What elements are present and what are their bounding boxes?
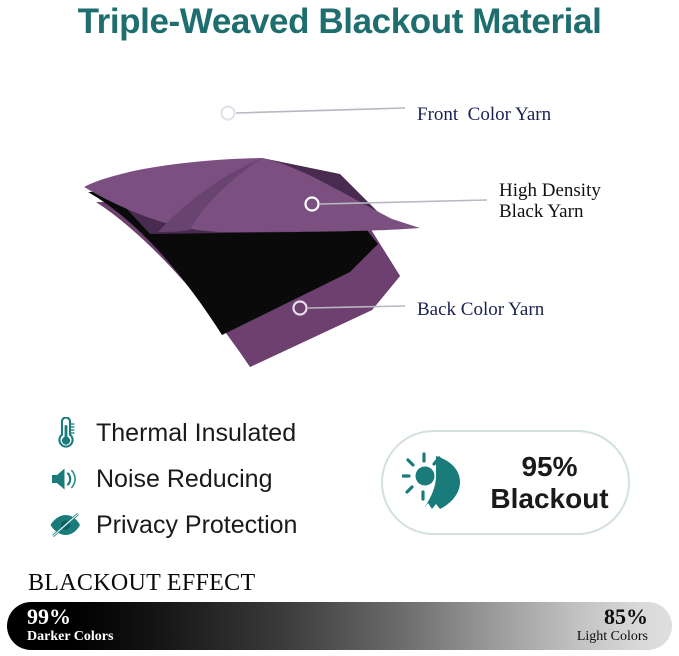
blackout-percent: 95% — [521, 451, 577, 482]
marker-circle-icon-front — [222, 107, 235, 120]
callout-line-front — [236, 108, 405, 113]
feature-list: Thermal Insulated Noise Reducing Privacy… — [48, 410, 378, 548]
feature-item-privacy-protection: Privacy Protection — [48, 502, 378, 548]
feature-label: Noise Reducing — [96, 465, 273, 494]
feature-label: Privacy Protection — [96, 511, 297, 540]
speaker-sound-icon — [48, 462, 82, 496]
blackout-effect-left: 99% Darker Colors — [27, 602, 113, 650]
darker-colors-percent: 99% — [27, 606, 71, 628]
light-colors-percent: 85% — [604, 606, 648, 628]
callout-label-back-color-yarn: Back Color Yarn — [417, 299, 544, 320]
feature-item-thermal-insulated: Thermal Insulated — [48, 410, 378, 456]
callout-label-high-density-black-yarn: High Density Black Yarn — [499, 180, 601, 223]
thermometer-icon — [48, 416, 82, 450]
blackout-effect-gradient-bar: 99% Darker Colors 85% Light Colors — [7, 602, 672, 650]
page-title: Triple-Weaved Blackout Material — [0, 2, 679, 42]
eye-slash-icon — [48, 508, 82, 542]
feature-item-noise-reducing: Noise Reducing — [48, 456, 378, 502]
blackout-effect-heading: BLACKOUT EFFECT — [28, 570, 255, 597]
blackout-label: Blackout — [490, 483, 608, 514]
callout-label-front-color-yarn: Front Color Yarn — [417, 104, 551, 125]
sun-blocked-by-curtain-icon — [402, 452, 480, 514]
feature-label: Thermal Insulated — [96, 419, 296, 448]
light-colors-caption: Light Colors — [577, 628, 648, 646]
blackout-badge: 95% Blackout — [381, 430, 630, 535]
blackout-effect-right: 85% Light Colors — [577, 602, 648, 650]
blackout-badge-text: 95% Blackout — [490, 451, 608, 515]
darker-colors-caption: Darker Colors — [27, 628, 113, 646]
